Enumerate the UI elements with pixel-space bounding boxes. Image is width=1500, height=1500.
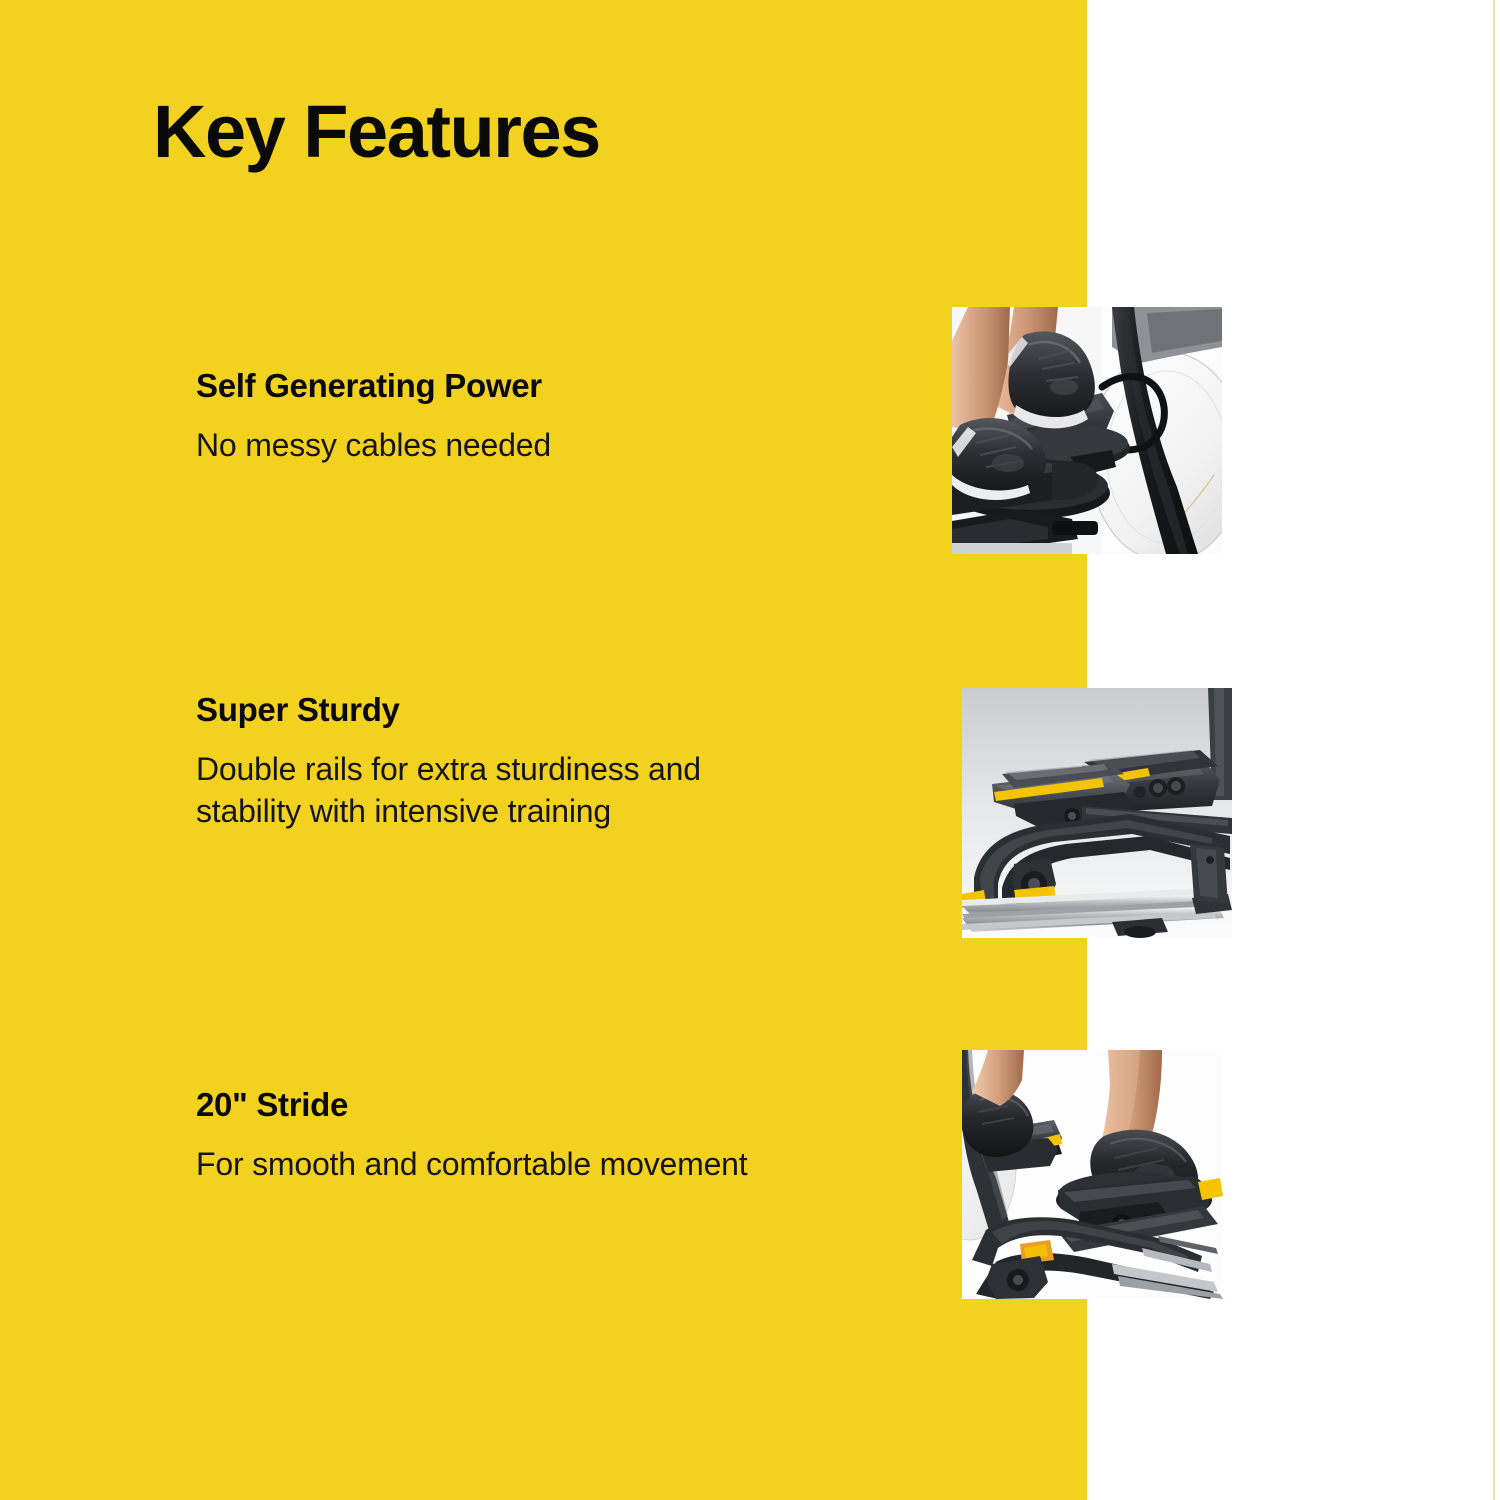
feature-photo-2 <box>962 688 1232 938</box>
feature-body-2: Double rails for extra sturdiness and st… <box>196 748 756 832</box>
feature-heading-2: Super Sturdy <box>196 690 756 730</box>
feature-page: Key Features Self Generating Power No me… <box>0 0 1500 1500</box>
feature-body-3: For smooth and comfortable movement <box>196 1143 756 1185</box>
page-title: Key Features <box>153 93 600 171</box>
feature-body-1: No messy cables needed <box>196 424 756 466</box>
feature-block-3: 20" Stride For smooth and comfortable mo… <box>196 1085 756 1185</box>
feature-block-2: Super Sturdy Double rails for extra stur… <box>196 690 756 832</box>
feature-block-1: Self Generating Power No messy cables ne… <box>196 366 756 466</box>
right-edge-accent-line <box>1493 0 1495 1500</box>
feature-photo-1 <box>952 307 1222 554</box>
feature-photo-3 <box>962 1050 1223 1299</box>
feature-heading-3: 20" Stride <box>196 1085 756 1125</box>
feature-heading-1: Self Generating Power <box>196 366 756 406</box>
